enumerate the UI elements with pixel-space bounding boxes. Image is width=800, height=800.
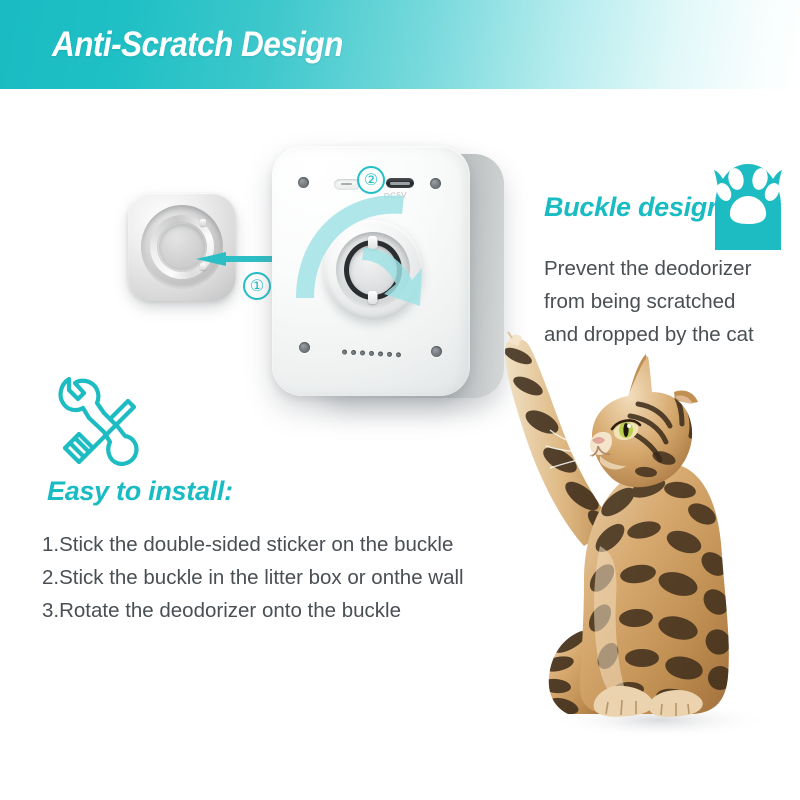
vent-hole [342,349,347,354]
vent-hole [360,350,365,355]
page-title: Anti-Scratch Design [52,25,343,65]
buckle-design-body-line: from being scratched [544,285,796,318]
buckle-notch [200,219,206,226]
callout-marker-1: ① [243,272,271,300]
screw-hole [431,346,442,357]
screw-hole [299,342,310,353]
buckle-design-body-line: Prevent the deodorizer [544,252,796,285]
callout-marker-2: ② [357,166,385,194]
wrench-screwdriver-icon [48,372,144,466]
buckle-design-title: Buckle design [544,192,723,223]
vent-hole [351,350,356,355]
install-step: 3.Rotate the deodorizer onto the buckle [42,594,512,627]
product-buckle-part [128,193,236,301]
header-banner: Anti-Scratch Design [0,0,800,89]
vent-hole [387,352,392,357]
install-step: 2.Stick the buckle in the litter box or … [42,561,512,594]
rotation-arrow-two [292,182,452,312]
install-title: Easy to install: [47,476,233,507]
install-steps-list: 1.Stick the double-sided sticker on the … [42,528,512,627]
install-step: 1.Stick the double-sided sticker on the … [42,528,512,561]
vent-hole-row [342,349,401,357]
vent-hole [396,352,401,357]
vent-hole [378,351,383,356]
bengal-cat-photo [488,330,800,750]
vent-hole [369,351,374,356]
